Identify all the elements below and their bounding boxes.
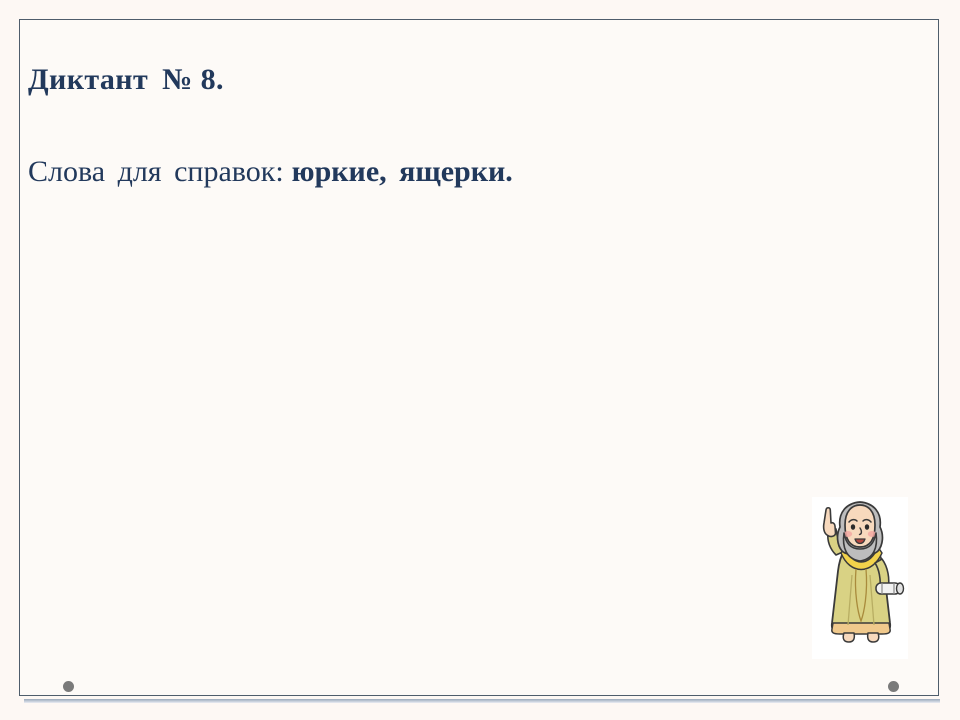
slide-content: Диктант№ 8. Слова для справок:юркие, яще… — [28, 60, 908, 192]
slide-title-number: № 8. — [162, 63, 224, 96]
slide-frame-shadow — [24, 699, 940, 703]
decorative-dot-right — [888, 681, 899, 692]
slide-title: Диктант№ 8. — [28, 60, 908, 100]
decorative-dot-left — [63, 681, 74, 692]
slide: Диктант№ 8. Слова для справок:юркие, яще… — [0, 0, 960, 720]
reference-words-line: Слова для справок:юркие, ящерки. — [28, 152, 908, 192]
slide-title-label: Диктант — [28, 63, 148, 96]
title-body-spacer — [28, 100, 908, 152]
reference-words-lead: Слова для справок: — [28, 155, 284, 188]
reference-words-values: юркие, ящерки. — [292, 155, 513, 188]
greek-philosopher-cartoon-icon — [812, 497, 908, 659]
